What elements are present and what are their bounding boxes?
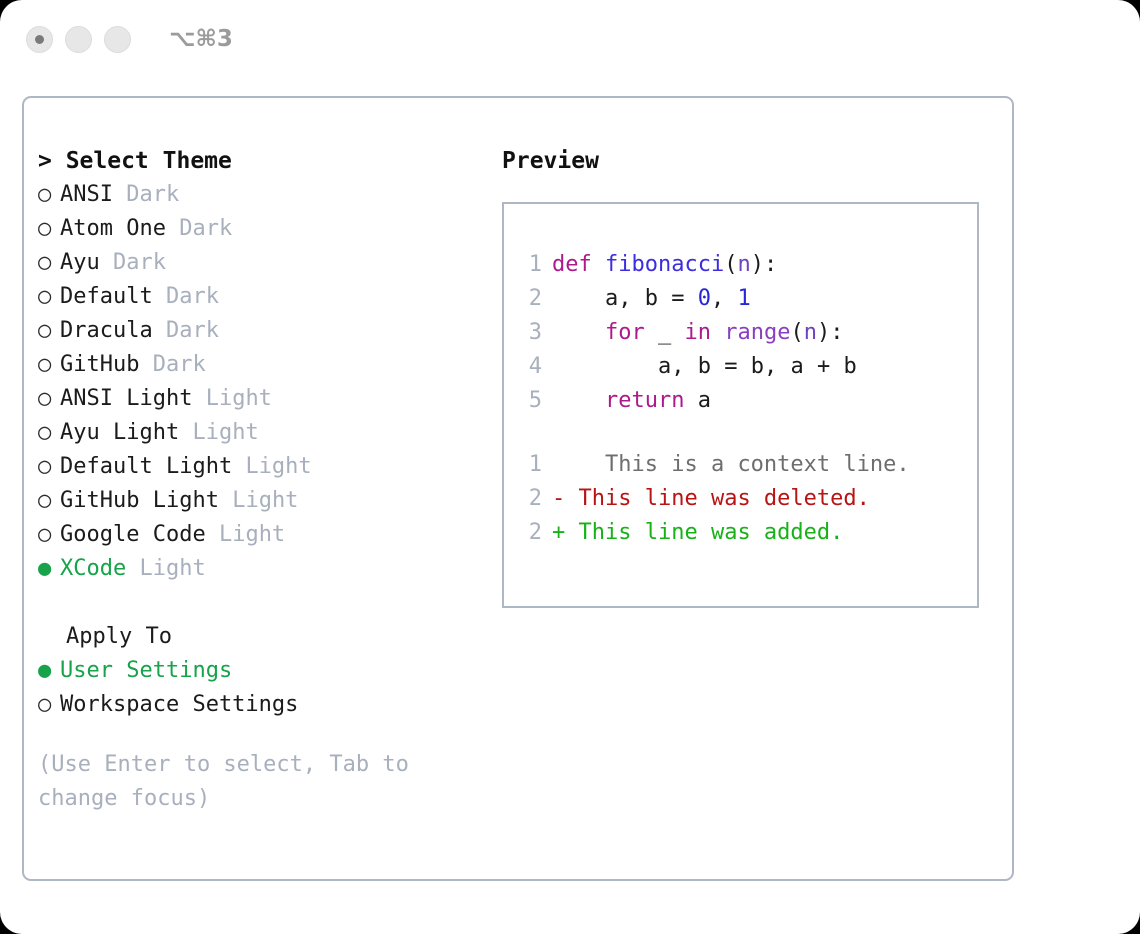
radio-unselected-icon: ○ <box>38 212 60 246</box>
theme-option-label: Dracula <box>60 318 153 343</box>
window-dot-active[interactable] <box>26 26 53 53</box>
theme-option-variant: Dark <box>166 318 219 343</box>
line-number: 2 <box>518 282 542 316</box>
theme-option-variant: Light <box>245 454 311 479</box>
theme-option-label: XCode <box>60 556 126 581</box>
theme-option-variant: Light <box>192 420 258 445</box>
theme-option-variant: Dark <box>179 216 232 241</box>
code-line-text: a, b = b, a + b <box>552 354 857 379</box>
theme-option-github[interactable]: ○GitHub Dark <box>38 348 478 382</box>
code-sample: 1def fibonacci(n):2 a, b = 0, 13 for _ i… <box>518 248 977 418</box>
theme-option-github-light[interactable]: ○GitHub Light Light <box>38 484 478 518</box>
theme-option-ansi-light[interactable]: ○ANSI Light Light <box>38 382 478 416</box>
apply-to-header: Apply To <box>38 620 478 654</box>
theme-option-variant: Light <box>219 522 285 547</box>
radio-unselected-icon: ○ <box>38 280 60 314</box>
radio-selected-icon: ● <box>38 552 60 586</box>
radio-unselected-icon: ○ <box>38 416 60 450</box>
apply-to-list: ●User Settings○Workspace Settings <box>38 654 478 722</box>
preview-gap <box>518 418 977 448</box>
section-spacer <box>38 586 478 620</box>
theme-option-label: ANSI <box>60 182 113 207</box>
diff-line-added: 2+ This line was added. <box>518 516 977 550</box>
line-number: 5 <box>518 384 542 418</box>
code-line: 2 a, b = 0, 1 <box>518 282 977 316</box>
diff-sign: + <box>552 520 565 545</box>
theme-option-label: Default <box>60 284 153 309</box>
theme-option-ansi[interactable]: ○ANSI Dark <box>38 178 478 212</box>
window-dot-2[interactable] <box>65 26 92 53</box>
theme-option-label: GitHub Light <box>60 488 219 513</box>
preview-title: Preview <box>502 144 1002 178</box>
code-line-text: a, b = 0, 1 <box>552 286 751 311</box>
theme-option-default[interactable]: ○Default Dark <box>38 280 478 314</box>
window-controls <box>26 26 131 53</box>
code-line: 3 for _ in range(n): <box>518 316 977 350</box>
code-line: 1def fibonacci(n): <box>518 248 977 282</box>
code-line: 5 return a <box>518 384 977 418</box>
theme-option-label: Ayu Light <box>60 420 179 445</box>
radio-unselected-icon: ○ <box>38 348 60 382</box>
theme-option-variant: Dark <box>126 182 179 207</box>
theme-list: ○ANSI Dark○Atom One Dark○Ayu Dark○Defaul… <box>38 178 478 586</box>
line-number: 2 <box>518 516 542 550</box>
apply-to-option-label: Workspace Settings <box>60 692 298 717</box>
theme-option-label: Atom One <box>60 216 166 241</box>
diff-line-text: This is a context line. <box>579 452 910 477</box>
radio-unselected-icon: ○ <box>38 246 60 280</box>
theme-option-variant: Dark <box>113 250 166 275</box>
diff-sign <box>552 452 565 477</box>
theme-option-variant: Light <box>232 488 298 513</box>
theme-option-variant: Light <box>139 556 205 581</box>
theme-option-variant: Light <box>206 386 272 411</box>
radio-unselected-icon: ○ <box>38 382 60 416</box>
theme-option-label: Google Code <box>60 522 206 547</box>
radio-unselected-icon: ○ <box>38 450 60 484</box>
theme-option-ayu[interactable]: ○Ayu Dark <box>38 246 478 280</box>
preview-box: 1def fibonacci(n):2 a, b = 0, 13 for _ i… <box>502 202 979 608</box>
theme-option-variant: Dark <box>153 352 206 377</box>
radio-unselected-icon: ○ <box>38 314 60 348</box>
diff-sample: 1 This is a context line.2- This line wa… <box>518 448 977 550</box>
line-number: 1 <box>518 248 542 282</box>
diff-line-text: This line was deleted. <box>579 486 870 511</box>
line-number: 4 <box>518 350 542 384</box>
code-line-text: return a <box>552 388 711 413</box>
line-number: 1 <box>518 448 542 482</box>
keyboard-hint: (Use Enter to select, Tab to change focu… <box>38 748 443 816</box>
theme-option-label: Default Light <box>60 454 232 479</box>
theme-option-default-light[interactable]: ○Default Light Light <box>38 450 478 484</box>
radio-unselected-icon: ○ <box>38 688 60 722</box>
line-number: 3 <box>518 316 542 350</box>
theme-option-ayu-light[interactable]: ○Ayu Light Light <box>38 416 478 450</box>
window-dot-3[interactable] <box>104 26 131 53</box>
diff-sign: - <box>552 486 565 511</box>
theme-picker-card: > Select Theme ○ANSI Dark○Atom One Dark○… <box>22 96 1014 881</box>
theme-option-atom-one[interactable]: ○Atom One Dark <box>38 212 478 246</box>
diff-line-deleted: 2- This line was deleted. <box>518 482 977 516</box>
apply-to-option-label: User Settings <box>60 658 232 683</box>
theme-option-label: GitHub <box>60 352 139 377</box>
code-line-text: def fibonacci(n): <box>552 252 777 277</box>
preview-column: Preview 1def fibonacci(n):2 a, b = 0, 13… <box>502 144 1002 608</box>
radio-unselected-icon: ○ <box>38 178 60 212</box>
theme-option-variant: Dark <box>166 284 219 309</box>
apply-to-option-workspace-settings[interactable]: ○Workspace Settings <box>38 688 478 722</box>
app-window: ⌥⌘3 > Select Theme ○ANSI Dark○Atom One D… <box>0 0 1140 934</box>
apply-to-option-user-settings[interactable]: ●User Settings <box>38 654 478 688</box>
theme-option-xcode[interactable]: ●XCode Light <box>38 552 478 586</box>
theme-option-label: ANSI Light <box>60 386 192 411</box>
theme-option-dracula[interactable]: ○Dracula Dark <box>38 314 478 348</box>
code-line: 4 a, b = b, a + b <box>518 350 977 384</box>
diff-line-context: 1 This is a context line. <box>518 448 977 482</box>
title-bar: ⌥⌘3 <box>0 0 1140 78</box>
line-number: 2 <box>518 482 542 516</box>
diff-line-text: This line was added. <box>579 520 844 545</box>
theme-list-header: > Select Theme <box>38 144 478 178</box>
theme-list-column: > Select Theme ○ANSI Dark○Atom One Dark○… <box>38 144 478 816</box>
radio-unselected-icon: ○ <box>38 484 60 518</box>
keyboard-shortcut-label: ⌥⌘3 <box>169 26 233 52</box>
theme-option-label: Ayu <box>60 250 100 275</box>
radio-unselected-icon: ○ <box>38 518 60 552</box>
theme-option-google-code[interactable]: ○Google Code Light <box>38 518 478 552</box>
window-dot-active-indicator <box>35 35 44 44</box>
radio-selected-icon: ● <box>38 654 60 688</box>
code-line-text: for _ in range(n): <box>552 320 843 345</box>
